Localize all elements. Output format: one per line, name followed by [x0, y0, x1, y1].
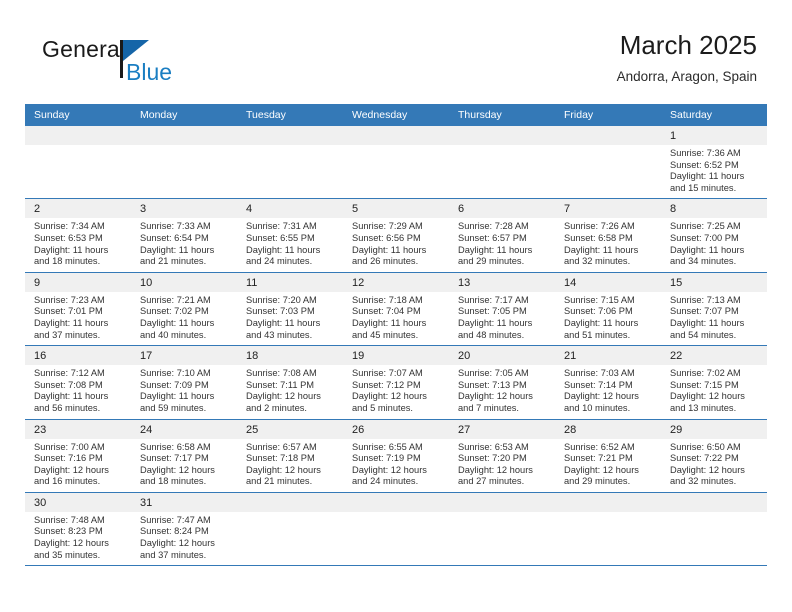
day-detail-daylight2: and 16 minutes. — [34, 476, 125, 488]
day-details: Sunrise: 7:36 AMSunset: 6:52 PMDaylight:… — [661, 145, 767, 198]
calendar-week-row: 30Sunrise: 7:48 AMSunset: 8:23 PMDayligh… — [25, 492, 767, 565]
calendar-cell-day[interactable]: 21Sunrise: 7:03 AMSunset: 7:14 PMDayligh… — [555, 346, 661, 419]
weekday-header-wednesday: Wednesday — [343, 104, 449, 126]
calendar-cell-day[interactable]: 6Sunrise: 7:28 AMSunset: 6:57 PMDaylight… — [449, 199, 555, 272]
day-details: Sunrise: 6:57 AMSunset: 7:18 PMDaylight:… — [237, 439, 343, 492]
day-detail-daylight2: and 13 minutes. — [670, 403, 761, 415]
day-details: Sunrise: 6:55 AMSunset: 7:19 PMDaylight:… — [343, 439, 449, 492]
calendar-page: General Blue March 2025 Andorra, Aragon,… — [0, 0, 792, 612]
day-detail-daylight1: Daylight: 11 hours — [140, 391, 231, 403]
day-detail-daylight2: and 45 minutes. — [352, 330, 443, 342]
day-detail-sunrise: Sunrise: 7:15 AM — [564, 295, 655, 307]
day-number — [555, 493, 661, 512]
day-detail-daylight2: and 35 minutes. — [34, 550, 125, 562]
day-detail-daylight1: Daylight: 11 hours — [34, 318, 125, 330]
day-detail-sunrise: Sunrise: 6:52 AM — [564, 442, 655, 454]
logo-text-blue: Blue — [126, 59, 172, 86]
day-detail-sunset: Sunset: 7:18 PM — [246, 453, 337, 465]
day-detail-sunset: Sunset: 7:22 PM — [670, 453, 761, 465]
day-number: 21 — [555, 346, 661, 365]
day-detail-sunset: Sunset: 7:19 PM — [352, 453, 443, 465]
day-details: Sunrise: 7:10 AMSunset: 7:09 PMDaylight:… — [131, 365, 237, 418]
day-detail-sunrise: Sunrise: 7:47 AM — [140, 515, 231, 527]
day-number: 1 — [661, 126, 767, 145]
day-number: 6 — [449, 199, 555, 218]
calendar-cell-day[interactable]: 7Sunrise: 7:26 AMSunset: 6:58 PMDaylight… — [555, 199, 661, 272]
day-number — [343, 493, 449, 512]
calendar-cell-day[interactable]: 15Sunrise: 7:13 AMSunset: 7:07 PMDayligh… — [661, 272, 767, 345]
day-detail-sunrise: Sunrise: 6:53 AM — [458, 442, 549, 454]
day-detail-daylight2: and 5 minutes. — [352, 403, 443, 415]
day-detail-daylight1: Daylight: 11 hours — [34, 391, 125, 403]
calendar-cell-empty — [25, 126, 131, 199]
day-detail-daylight1: Daylight: 12 hours — [140, 538, 231, 550]
calendar-body: 1Sunrise: 7:36 AMSunset: 6:52 PMDaylight… — [25, 126, 767, 566]
calendar-cell-day[interactable]: 29Sunrise: 6:50 AMSunset: 7:22 PMDayligh… — [661, 419, 767, 492]
calendar-week-row: 16Sunrise: 7:12 AMSunset: 7:08 PMDayligh… — [25, 346, 767, 419]
day-detail-daylight1: Daylight: 12 hours — [670, 391, 761, 403]
day-number — [131, 126, 237, 145]
day-details: Sunrise: 7:13 AMSunset: 7:07 PMDaylight:… — [661, 292, 767, 345]
day-details: Sunrise: 7:48 AMSunset: 8:23 PMDaylight:… — [25, 512, 131, 565]
calendar-cell-day[interactable]: 8Sunrise: 7:25 AMSunset: 7:00 PMDaylight… — [661, 199, 767, 272]
day-detail-sunset: Sunset: 6:52 PM — [670, 160, 761, 172]
day-detail-sunset: Sunset: 7:21 PM — [564, 453, 655, 465]
day-number: 18 — [237, 346, 343, 365]
day-detail-sunrise: Sunrise: 7:34 AM — [34, 221, 125, 233]
day-detail-sunrise: Sunrise: 7:00 AM — [34, 442, 125, 454]
calendar-cell-day[interactable]: 10Sunrise: 7:21 AMSunset: 7:02 PMDayligh… — [131, 272, 237, 345]
calendar-cell-day[interactable]: 16Sunrise: 7:12 AMSunset: 7:08 PMDayligh… — [25, 346, 131, 419]
day-detail-sunrise: Sunrise: 6:55 AM — [352, 442, 443, 454]
day-details: Sunrise: 7:47 AMSunset: 8:24 PMDaylight:… — [131, 512, 237, 565]
day-detail-sunset: Sunset: 6:55 PM — [246, 233, 337, 245]
day-details: Sunrise: 7:34 AMSunset: 6:53 PMDaylight:… — [25, 218, 131, 271]
calendar-cell-day[interactable]: 4Sunrise: 7:31 AMSunset: 6:55 PMDaylight… — [237, 199, 343, 272]
day-detail-daylight2: and 40 minutes. — [140, 330, 231, 342]
page-title: March 2025 — [617, 28, 757, 62]
day-detail-sunset: Sunset: 7:01 PM — [34, 306, 125, 318]
day-detail-sunset: Sunset: 8:23 PM — [34, 526, 125, 538]
day-number: 26 — [343, 420, 449, 439]
day-details: Sunrise: 7:26 AMSunset: 6:58 PMDaylight:… — [555, 218, 661, 271]
day-details: Sunrise: 7:07 AMSunset: 7:12 PMDaylight:… — [343, 365, 449, 418]
day-detail-daylight1: Daylight: 12 hours — [246, 391, 337, 403]
day-detail-sunset: Sunset: 7:08 PM — [34, 380, 125, 392]
day-details: Sunrise: 7:29 AMSunset: 6:56 PMDaylight:… — [343, 218, 449, 271]
calendar-cell-day[interactable]: 19Sunrise: 7:07 AMSunset: 7:12 PMDayligh… — [343, 346, 449, 419]
day-detail-daylight1: Daylight: 11 hours — [670, 318, 761, 330]
day-detail-daylight2: and 56 minutes. — [34, 403, 125, 415]
day-detail-daylight1: Daylight: 12 hours — [458, 391, 549, 403]
day-detail-daylight2: and 27 minutes. — [458, 476, 549, 488]
day-number — [661, 493, 767, 512]
day-detail-daylight1: Daylight: 12 hours — [564, 465, 655, 477]
day-detail-daylight1: Daylight: 12 hours — [352, 391, 443, 403]
day-detail-daylight2: and 10 minutes. — [564, 403, 655, 415]
day-number: 13 — [449, 273, 555, 292]
calendar-cell-day[interactable]: 2Sunrise: 7:34 AMSunset: 6:53 PMDaylight… — [25, 199, 131, 272]
day-detail-sunrise: Sunrise: 7:36 AM — [670, 148, 761, 160]
logo-text-general: General — [42, 36, 125, 63]
day-detail-daylight2: and 48 minutes. — [458, 330, 549, 342]
day-detail-sunrise: Sunrise: 7:23 AM — [34, 295, 125, 307]
day-detail-sunrise: Sunrise: 7:05 AM — [458, 368, 549, 380]
day-details: Sunrise: 7:17 AMSunset: 7:05 PMDaylight:… — [449, 292, 555, 345]
day-detail-daylight2: and 21 minutes. — [246, 476, 337, 488]
day-number: 17 — [131, 346, 237, 365]
day-number: 19 — [343, 346, 449, 365]
day-detail-sunrise: Sunrise: 7:29 AM — [352, 221, 443, 233]
day-detail-daylight1: Daylight: 11 hours — [140, 245, 231, 257]
calendar-cell-empty — [343, 492, 449, 565]
day-number — [555, 126, 661, 145]
day-detail-sunset: Sunset: 7:03 PM — [246, 306, 337, 318]
day-detail-sunrise: Sunrise: 6:50 AM — [670, 442, 761, 454]
day-detail-sunrise: Sunrise: 7:33 AM — [140, 221, 231, 233]
day-detail-sunset: Sunset: 6:56 PM — [352, 233, 443, 245]
day-details: Sunrise: 7:02 AMSunset: 7:15 PMDaylight:… — [661, 365, 767, 418]
calendar-cell-empty — [237, 492, 343, 565]
day-number — [449, 126, 555, 145]
day-details: Sunrise: 7:21 AMSunset: 7:02 PMDaylight:… — [131, 292, 237, 345]
calendar-cell-empty — [449, 492, 555, 565]
day-detail-daylight2: and 2 minutes. — [246, 403, 337, 415]
day-detail-sunrise: Sunrise: 7:28 AM — [458, 221, 549, 233]
day-details: Sunrise: 7:08 AMSunset: 7:11 PMDaylight:… — [237, 365, 343, 418]
day-detail-daylight2: and 15 minutes. — [670, 183, 761, 195]
day-number: 20 — [449, 346, 555, 365]
weekday-header-monday: Monday — [131, 104, 237, 126]
day-detail-daylight2: and 37 minutes. — [34, 330, 125, 342]
day-number: 9 — [25, 273, 131, 292]
day-detail-sunset: Sunset: 7:04 PM — [352, 306, 443, 318]
day-number: 7 — [555, 199, 661, 218]
calendar-cell-empty — [661, 492, 767, 565]
day-details: Sunrise: 7:05 AMSunset: 7:13 PMDaylight:… — [449, 365, 555, 418]
day-detail-sunrise: Sunrise: 7:18 AM — [352, 295, 443, 307]
calendar-cell-day[interactable]: 23Sunrise: 7:00 AMSunset: 7:16 PMDayligh… — [25, 419, 131, 492]
day-detail-daylight1: Daylight: 12 hours — [34, 538, 125, 550]
day-detail-daylight1: Daylight: 11 hours — [246, 318, 337, 330]
day-detail-daylight1: Daylight: 11 hours — [564, 318, 655, 330]
title-block: March 2025 Andorra, Aragon, Spain — [617, 28, 757, 87]
day-detail-daylight1: Daylight: 12 hours — [352, 465, 443, 477]
weekday-header-saturday: Saturday — [661, 104, 767, 126]
day-detail-sunset: Sunset: 7:07 PM — [670, 306, 761, 318]
day-number: 2 — [25, 199, 131, 218]
day-detail-sunrise: Sunrise: 7:13 AM — [670, 295, 761, 307]
weekday-header-tuesday: Tuesday — [237, 104, 343, 126]
day-number: 30 — [25, 493, 131, 512]
day-detail-daylight2: and 24 minutes. — [246, 256, 337, 268]
calendar-cell-empty — [237, 126, 343, 199]
day-detail-sunset: Sunset: 7:12 PM — [352, 380, 443, 392]
calendar-cell-day[interactable]: 28Sunrise: 6:52 AMSunset: 7:21 PMDayligh… — [555, 419, 661, 492]
day-detail-sunset: Sunset: 7:05 PM — [458, 306, 549, 318]
day-number — [343, 126, 449, 145]
day-detail-daylight1: Daylight: 12 hours — [564, 391, 655, 403]
calendar-cell-day[interactable]: 25Sunrise: 6:57 AMSunset: 7:18 PMDayligh… — [237, 419, 343, 492]
calendar-week-row: 9Sunrise: 7:23 AMSunset: 7:01 PMDaylight… — [25, 272, 767, 345]
day-details: Sunrise: 6:53 AMSunset: 7:20 PMDaylight:… — [449, 439, 555, 492]
day-detail-daylight1: Daylight: 11 hours — [458, 318, 549, 330]
calendar-cell-day[interactable]: 18Sunrise: 7:08 AMSunset: 7:11 PMDayligh… — [237, 346, 343, 419]
day-detail-daylight2: and 18 minutes. — [34, 256, 125, 268]
day-number: 4 — [237, 199, 343, 218]
weekday-header-thursday: Thursday — [449, 104, 555, 126]
day-number: 16 — [25, 346, 131, 365]
calendar-cell-day[interactable]: 13Sunrise: 7:17 AMSunset: 7:05 PMDayligh… — [449, 272, 555, 345]
day-detail-sunset: Sunset: 7:16 PM — [34, 453, 125, 465]
day-number: 24 — [131, 420, 237, 439]
calendar-cell-day[interactable]: 26Sunrise: 6:55 AMSunset: 7:19 PMDayligh… — [343, 419, 449, 492]
day-detail-daylight2: and 32 minutes. — [564, 256, 655, 268]
day-detail-daylight2: and 51 minutes. — [564, 330, 655, 342]
day-number — [237, 493, 343, 512]
calendar-cell-day[interactable]: 31Sunrise: 7:47 AMSunset: 8:24 PMDayligh… — [131, 492, 237, 565]
calendar-week-row: 1Sunrise: 7:36 AMSunset: 6:52 PMDaylight… — [25, 126, 767, 199]
day-detail-sunrise: Sunrise: 7:08 AM — [246, 368, 337, 380]
calendar-grid: Sunday Monday Tuesday Wednesday Thursday… — [25, 104, 767, 566]
day-number: 10 — [131, 273, 237, 292]
day-detail-sunrise: Sunrise: 7:10 AM — [140, 368, 231, 380]
day-detail-sunrise: Sunrise: 7:21 AM — [140, 295, 231, 307]
day-detail-daylight1: Daylight: 12 hours — [34, 465, 125, 477]
day-detail-sunrise: Sunrise: 7:20 AM — [246, 295, 337, 307]
day-number: 15 — [661, 273, 767, 292]
day-number: 11 — [237, 273, 343, 292]
calendar-cell-day[interactable]: 11Sunrise: 7:20 AMSunset: 7:03 PMDayligh… — [237, 272, 343, 345]
general-blue-logo[interactable]: General Blue — [42, 36, 242, 96]
day-detail-sunrise: Sunrise: 7:07 AM — [352, 368, 443, 380]
calendar-cell-day[interactable]: 1Sunrise: 7:36 AMSunset: 6:52 PMDaylight… — [661, 126, 767, 199]
day-detail-sunset: Sunset: 7:00 PM — [670, 233, 761, 245]
day-detail-daylight2: and 32 minutes. — [670, 476, 761, 488]
day-detail-sunrise: Sunrise: 7:02 AM — [670, 368, 761, 380]
day-detail-sunset: Sunset: 7:20 PM — [458, 453, 549, 465]
day-detail-sunset: Sunset: 7:02 PM — [140, 306, 231, 318]
day-detail-daylight2: and 26 minutes. — [352, 256, 443, 268]
day-detail-daylight1: Daylight: 11 hours — [458, 245, 549, 257]
day-detail-sunset: Sunset: 6:53 PM — [34, 233, 125, 245]
calendar-cell-day[interactable]: 27Sunrise: 6:53 AMSunset: 7:20 PMDayligh… — [449, 419, 555, 492]
day-detail-sunrise: Sunrise: 7:31 AM — [246, 221, 337, 233]
calendar-cell-empty — [131, 126, 237, 199]
day-details: Sunrise: 7:20 AMSunset: 7:03 PMDaylight:… — [237, 292, 343, 345]
day-details: Sunrise: 6:52 AMSunset: 7:21 PMDaylight:… — [555, 439, 661, 492]
day-details: Sunrise: 7:31 AMSunset: 6:55 PMDaylight:… — [237, 218, 343, 271]
day-number: 14 — [555, 273, 661, 292]
day-detail-daylight1: Daylight: 11 hours — [246, 245, 337, 257]
day-detail-sunrise: Sunrise: 6:57 AM — [246, 442, 337, 454]
day-details: Sunrise: 7:00 AMSunset: 7:16 PMDaylight:… — [25, 439, 131, 492]
day-number: 3 — [131, 199, 237, 218]
weekday-header-friday: Friday — [555, 104, 661, 126]
calendar-cell-day[interactable]: 5Sunrise: 7:29 AMSunset: 6:56 PMDaylight… — [343, 199, 449, 272]
day-detail-daylight2: and 37 minutes. — [140, 550, 231, 562]
day-detail-sunset: Sunset: 7:15 PM — [670, 380, 761, 392]
day-detail-daylight1: Daylight: 11 hours — [564, 245, 655, 257]
day-details: Sunrise: 7:33 AMSunset: 6:54 PMDaylight:… — [131, 218, 237, 271]
calendar-cell-empty — [555, 492, 661, 565]
day-number — [237, 126, 343, 145]
day-number: 12 — [343, 273, 449, 292]
calendar-cell-day[interactable]: 24Sunrise: 6:58 AMSunset: 7:17 PMDayligh… — [131, 419, 237, 492]
calendar-cell-empty — [449, 126, 555, 199]
calendar-cell-empty — [555, 126, 661, 199]
calendar-cell-day[interactable]: 14Sunrise: 7:15 AMSunset: 7:06 PMDayligh… — [555, 272, 661, 345]
day-details: Sunrise: 6:58 AMSunset: 7:17 PMDaylight:… — [131, 439, 237, 492]
day-number: 27 — [449, 420, 555, 439]
day-detail-daylight1: Daylight: 11 hours — [34, 245, 125, 257]
day-detail-sunset: Sunset: 7:11 PM — [246, 380, 337, 392]
day-detail-daylight2: and 24 minutes. — [352, 476, 443, 488]
day-number: 28 — [555, 420, 661, 439]
day-detail-daylight1: Daylight: 11 hours — [140, 318, 231, 330]
day-details: Sunrise: 7:03 AMSunset: 7:14 PMDaylight:… — [555, 365, 661, 418]
day-number: 23 — [25, 420, 131, 439]
day-details: Sunrise: 6:50 AMSunset: 7:22 PMDaylight:… — [661, 439, 767, 492]
calendar-cell-day[interactable]: 17Sunrise: 7:10 AMSunset: 7:09 PMDayligh… — [131, 346, 237, 419]
calendar-cell-day[interactable]: 3Sunrise: 7:33 AMSunset: 6:54 PMDaylight… — [131, 199, 237, 272]
day-details: Sunrise: 7:18 AMSunset: 7:04 PMDaylight:… — [343, 292, 449, 345]
day-detail-daylight2: and 43 minutes. — [246, 330, 337, 342]
day-detail-daylight2: and 18 minutes. — [140, 476, 231, 488]
day-number: 8 — [661, 199, 767, 218]
day-details: Sunrise: 7:23 AMSunset: 7:01 PMDaylight:… — [25, 292, 131, 345]
calendar-cell-day[interactable]: 20Sunrise: 7:05 AMSunset: 7:13 PMDayligh… — [449, 346, 555, 419]
day-detail-sunset: Sunset: 7:17 PM — [140, 453, 231, 465]
day-detail-sunrise: Sunrise: 7:03 AM — [564, 368, 655, 380]
day-detail-daylight1: Daylight: 12 hours — [458, 465, 549, 477]
day-details: Sunrise: 7:28 AMSunset: 6:57 PMDaylight:… — [449, 218, 555, 271]
day-number: 29 — [661, 420, 767, 439]
logo-triangle-icon — [123, 40, 149, 61]
day-detail-daylight2: and 29 minutes. — [564, 476, 655, 488]
day-number: 22 — [661, 346, 767, 365]
calendar-week-row: 23Sunrise: 7:00 AMSunset: 7:16 PMDayligh… — [25, 419, 767, 492]
day-detail-sunset: Sunset: 6:57 PM — [458, 233, 549, 245]
day-detail-daylight2: and 34 minutes. — [670, 256, 761, 268]
day-detail-sunrise: Sunrise: 7:25 AM — [670, 221, 761, 233]
page-header: General Blue March 2025 Andorra, Aragon,… — [25, 28, 767, 98]
day-detail-sunrise: Sunrise: 6:58 AM — [140, 442, 231, 454]
day-detail-daylight2: and 59 minutes. — [140, 403, 231, 415]
day-detail-sunrise: Sunrise: 7:12 AM — [34, 368, 125, 380]
day-detail-daylight2: and 29 minutes. — [458, 256, 549, 268]
day-number: 25 — [237, 420, 343, 439]
day-number — [449, 493, 555, 512]
day-detail-sunrise: Sunrise: 7:26 AM — [564, 221, 655, 233]
day-detail-daylight1: Daylight: 12 hours — [670, 465, 761, 477]
day-detail-sunrise: Sunrise: 7:17 AM — [458, 295, 549, 307]
day-detail-daylight1: Daylight: 11 hours — [352, 318, 443, 330]
day-detail-sunset: Sunset: 7:09 PM — [140, 380, 231, 392]
day-details: Sunrise: 7:25 AMSunset: 7:00 PMDaylight:… — [661, 218, 767, 271]
day-detail-daylight1: Daylight: 12 hours — [246, 465, 337, 477]
day-detail-daylight1: Daylight: 11 hours — [670, 245, 761, 257]
calendar-cell-empty — [343, 126, 449, 199]
page-subtitle: Andorra, Aragon, Spain — [617, 67, 757, 87]
day-details: Sunrise: 7:12 AMSunset: 7:08 PMDaylight:… — [25, 365, 131, 418]
calendar-cell-day[interactable]: 22Sunrise: 7:02 AMSunset: 7:15 PMDayligh… — [661, 346, 767, 419]
day-number — [25, 126, 131, 145]
day-detail-sunset: Sunset: 7:06 PM — [564, 306, 655, 318]
day-detail-daylight2: and 7 minutes. — [458, 403, 549, 415]
day-detail-sunrise: Sunrise: 7:48 AM — [34, 515, 125, 527]
calendar-cell-day[interactable]: 30Sunrise: 7:48 AMSunset: 8:23 PMDayligh… — [25, 492, 131, 565]
day-detail-sunset: Sunset: 7:13 PM — [458, 380, 549, 392]
day-detail-daylight1: Daylight: 11 hours — [352, 245, 443, 257]
calendar-cell-day[interactable]: 12Sunrise: 7:18 AMSunset: 7:04 PMDayligh… — [343, 272, 449, 345]
day-detail-daylight1: Daylight: 11 hours — [670, 171, 761, 183]
calendar-cell-day[interactable]: 9Sunrise: 7:23 AMSunset: 7:01 PMDaylight… — [25, 272, 131, 345]
day-number: 5 — [343, 199, 449, 218]
day-detail-daylight2: and 54 minutes. — [670, 330, 761, 342]
day-details: Sunrise: 7:15 AMSunset: 7:06 PMDaylight:… — [555, 292, 661, 345]
day-detail-sunset: Sunset: 6:58 PM — [564, 233, 655, 245]
day-detail-daylight2: and 21 minutes. — [140, 256, 231, 268]
day-detail-sunset: Sunset: 6:54 PM — [140, 233, 231, 245]
day-number: 31 — [131, 493, 237, 512]
day-detail-daylight1: Daylight: 12 hours — [140, 465, 231, 477]
weekday-header-row: Sunday Monday Tuesday Wednesday Thursday… — [25, 104, 767, 126]
day-detail-sunset: Sunset: 8:24 PM — [140, 526, 231, 538]
day-detail-sunset: Sunset: 7:14 PM — [564, 380, 655, 392]
calendar-week-row: 2Sunrise: 7:34 AMSunset: 6:53 PMDaylight… — [25, 199, 767, 272]
weekday-header-sunday: Sunday — [25, 104, 131, 126]
